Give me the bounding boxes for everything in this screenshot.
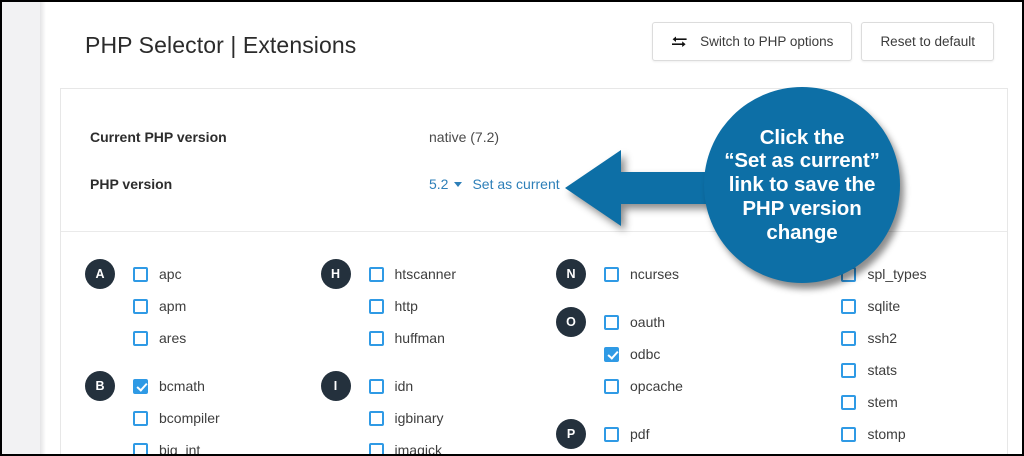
extension-list: ncurses — [604, 258, 773, 290]
extension-label: http — [395, 298, 418, 314]
page-header: PHP Selector | Extensions Switch to PHP … — [46, 2, 1010, 88]
extensions-grid: AapcapmaresBbcmathbcompilerbig_int Hhtsc… — [61, 258, 1007, 456]
extension-item[interactable]: igbinary — [369, 402, 537, 434]
extension-item[interactable]: idn — [369, 370, 537, 402]
extension-label: apm — [159, 298, 186, 314]
extension-list: spl_typessqlitessh2statsstemstomp — [841, 258, 1007, 450]
extension-item[interactable]: sqlite — [841, 290, 1007, 322]
extension-label: igbinary — [395, 410, 444, 426]
extension-item[interactable]: ssh2 — [841, 322, 1007, 354]
checkbox-htscanner[interactable] — [369, 267, 384, 282]
extension-item[interactable]: apc — [133, 258, 299, 290]
extension-item[interactable]: bcompiler — [133, 402, 299, 434]
current-php-version-row: Current PHP version native (7.2) — [61, 125, 1007, 149]
extension-group: Nncurses — [556, 258, 773, 290]
extension-group: Ooauthodbcopcache — [556, 306, 773, 402]
letter-badge-h: H — [321, 259, 351, 289]
extensions-area: AapcapmaresBbcmathbcompilerbig_int Hhtsc… — [61, 232, 1007, 456]
extension-item[interactable]: big_int — [133, 434, 299, 456]
checkbox-oauth[interactable] — [604, 315, 619, 330]
letter-badge-i: I — [321, 371, 351, 401]
checkbox-stem[interactable] — [841, 395, 856, 410]
php-version-dropdown[interactable]: 5.2 — [429, 176, 448, 192]
extension-group: Aapcapmares — [85, 258, 299, 354]
checkbox-spl_types[interactable] — [841, 267, 856, 282]
header-actions: Switch to PHP options Reset to default — [652, 22, 994, 61]
extension-label: imagick — [395, 442, 442, 456]
extension-list: htscannerhttphuffman — [369, 258, 537, 354]
current-php-version-label: Current PHP version — [90, 129, 227, 145]
letter-badge-b: B — [85, 371, 115, 401]
php-version-block: Current PHP version native (7.2) PHP ver… — [61, 89, 1007, 232]
extension-list: apcapmares — [133, 258, 299, 354]
extension-label: ncurses — [630, 266, 679, 282]
extension-item[interactable]: stats — [841, 354, 1007, 386]
php-version-select-group: 5.2 Set as current — [429, 176, 560, 192]
extensions-column-4: spl_typessqlitessh2statsstemstomp — [773, 258, 1007, 456]
extensions-column-3: NncursesOoauthodbcopcachePpdfpdo — [536, 258, 773, 456]
extension-item[interactable]: stomp — [841, 418, 1007, 450]
reset-to-default-label: Reset to default — [880, 34, 975, 49]
extension-label: idn — [395, 378, 414, 394]
checkbox-ncurses[interactable] — [604, 267, 619, 282]
php-version-row: PHP version 5.2 Set as current — [61, 172, 1007, 196]
extension-label: oauth — [630, 314, 665, 330]
letter-badge-a: A — [85, 259, 115, 289]
checkbox-bcompiler[interactable] — [133, 411, 148, 426]
page-title: PHP Selector | Extensions — [85, 32, 356, 59]
extension-label: odbc — [630, 346, 660, 362]
php-selector-card: Current PHP version native (7.2) PHP ver… — [60, 88, 1008, 456]
extension-label: stem — [867, 394, 897, 410]
extension-item[interactable]: pdf — [604, 418, 773, 450]
extension-list: pdfpdo — [604, 418, 773, 456]
extension-label: spl_types — [867, 266, 926, 282]
current-php-version-value: native (7.2) — [429, 129, 499, 145]
extension-list: bcmathbcompilerbig_int — [133, 370, 299, 456]
extensions-column-1: AapcapmaresBbcmathbcompilerbig_int — [61, 258, 299, 456]
switch-to-php-options-button[interactable]: Switch to PHP options — [652, 22, 852, 61]
letter-badge-o: O — [556, 307, 586, 337]
extension-group: spl_typessqlitessh2statsstemstomp — [793, 258, 1007, 450]
checkbox-imagick[interactable] — [369, 443, 384, 456]
extension-item[interactable]: odbc — [604, 338, 773, 370]
checkbox-stats[interactable] — [841, 363, 856, 378]
checkbox-idn[interactable] — [369, 379, 384, 394]
extension-label: stats — [867, 362, 897, 378]
extension-item[interactable]: huffman — [369, 322, 537, 354]
extension-label: stomp — [867, 426, 905, 442]
extension-label: ares — [159, 330, 186, 346]
extension-label: apc — [159, 266, 182, 282]
extension-label: bcmath — [159, 378, 205, 394]
checkbox-big_int[interactable] — [133, 443, 148, 456]
set-as-current-link[interactable]: Set as current — [472, 176, 559, 192]
checkbox-opcache[interactable] — [604, 379, 619, 394]
checkbox-huffman[interactable] — [369, 331, 384, 346]
extension-label: big_int — [159, 442, 200, 456]
checkbox-http[interactable] — [369, 299, 384, 314]
checkbox-apc[interactable] — [133, 267, 148, 282]
extensions-column-2: HhtscannerhttphuffmanIidnigbinaryimagick — [299, 258, 537, 456]
extension-label: ssh2 — [867, 330, 897, 346]
checkbox-bcmath[interactable] — [133, 379, 148, 394]
screenshot-root: PHP Selector | Extensions Switch to PHP … — [0, 0, 1024, 456]
switch-to-php-options-label: Switch to PHP options — [700, 34, 833, 49]
extension-item[interactable]: pdo — [604, 450, 773, 456]
checkbox-ares[interactable] — [133, 331, 148, 346]
checkbox-stomp[interactable] — [841, 427, 856, 442]
letter-badge-p: P — [556, 419, 586, 449]
extension-item[interactable]: imagick — [369, 434, 537, 456]
exchange-arrows-icon — [671, 36, 688, 48]
php-version-label: PHP version — [90, 176, 172, 192]
extension-label: pdf — [630, 426, 649, 442]
extension-item[interactable]: http — [369, 290, 537, 322]
left-sidebar-rail — [2, 2, 40, 454]
page-content: PHP Selector | Extensions Switch to PHP … — [46, 2, 1022, 454]
chevron-down-icon[interactable] — [454, 182, 462, 187]
checkbox-odbc[interactable] — [604, 347, 619, 362]
extension-label: opcache — [630, 378, 683, 394]
extension-item[interactable]: ncurses — [604, 258, 773, 290]
extension-item[interactable]: opcache — [604, 370, 773, 402]
extension-item[interactable]: htscanner — [369, 258, 537, 290]
extension-group: Ppdfpdo — [556, 418, 773, 456]
extension-label: sqlite — [867, 298, 900, 314]
checkbox-pdf[interactable] — [604, 427, 619, 442]
extension-group: Bbcmathbcompilerbig_int — [85, 370, 299, 456]
extension-label: bcompiler — [159, 410, 220, 426]
extension-item[interactable]: oauth — [604, 306, 773, 338]
extension-group: Hhtscannerhttphuffman — [321, 258, 537, 354]
checkbox-igbinary[interactable] — [369, 411, 384, 426]
extension-item[interactable]: ares — [133, 322, 299, 354]
extension-item[interactable]: stem — [841, 386, 1007, 418]
checkbox-sqlite[interactable] — [841, 299, 856, 314]
reset-to-default-button[interactable]: Reset to default — [861, 22, 994, 61]
extension-label: htscanner — [395, 266, 456, 282]
extension-list: idnigbinaryimagick — [369, 370, 537, 456]
extension-item[interactable]: apm — [133, 290, 299, 322]
checkbox-apm[interactable] — [133, 299, 148, 314]
extension-item[interactable]: spl_types — [841, 258, 1007, 290]
checkbox-ssh2[interactable] — [841, 331, 856, 346]
extension-label: huffman — [395, 330, 445, 346]
extension-group: Iidnigbinaryimagick — [321, 370, 537, 456]
extension-list: oauthodbcopcache — [604, 306, 773, 402]
extension-item[interactable]: bcmath — [133, 370, 299, 402]
letter-badge-n: N — [556, 259, 586, 289]
